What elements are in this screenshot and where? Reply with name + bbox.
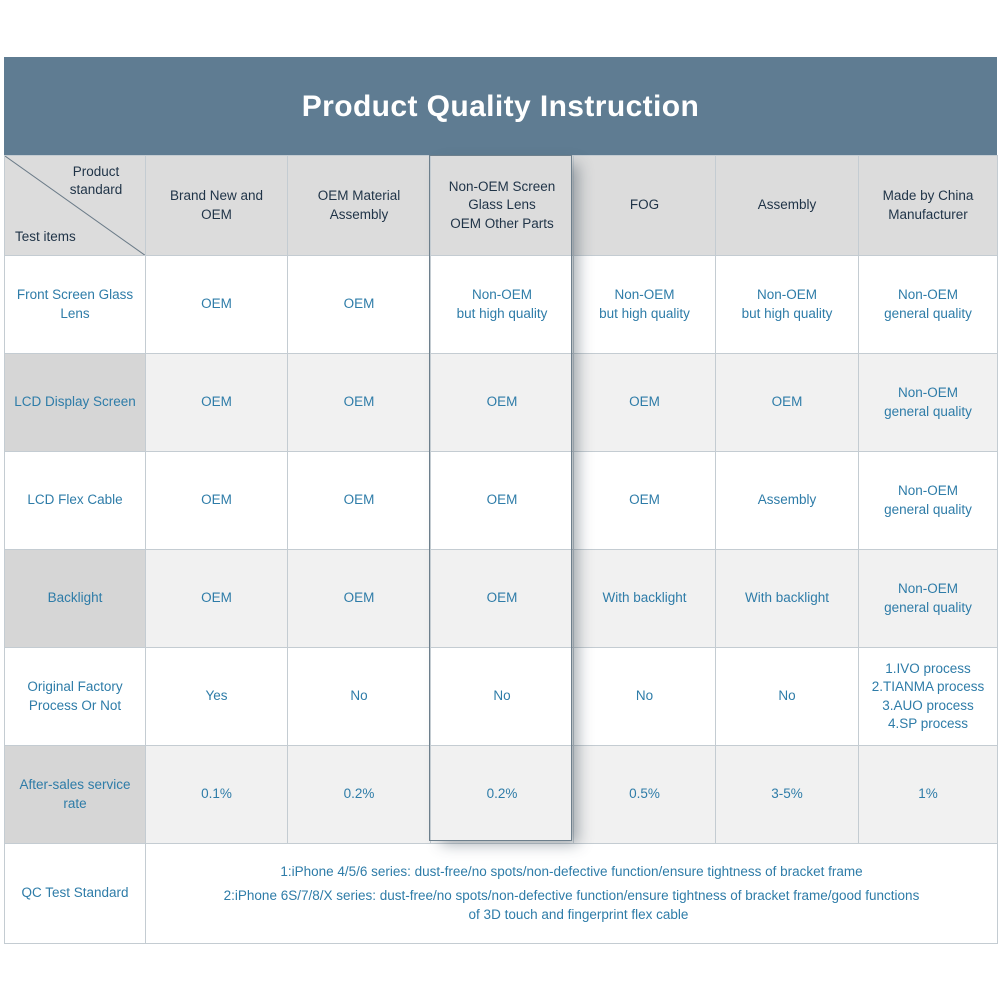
table-cell: OEM [574,354,716,452]
cell-line: No [493,688,510,703]
table-cell: OEM [146,550,288,648]
table-cell: OEM [288,256,431,354]
table-cell: OEM [146,452,288,550]
table-cell: 0.1% [146,746,288,844]
column-header-line: FOG [630,197,659,212]
corner-header-cell: Product standard Test items [5,156,146,256]
table-cell: With backlight [716,550,859,648]
cell-line: OEM [487,492,518,507]
column-header-line: Made by China [883,188,974,203]
cell-line: 0.2% [344,786,375,801]
table-cell: 3-5% [716,746,859,844]
quality-comparison-table-wrapper: Product standard Test items Brand New an… [4,155,997,941]
table-cell: No [431,648,574,746]
column-header-line: OEM Other Parts [450,216,554,231]
process-list-item: 1.IVO process [885,661,971,676]
column-header-line: OEM Material [318,188,401,203]
cell-line: Non-OEM [472,287,532,302]
table-row: Original Factory Process Or Not Yes No N… [5,648,998,746]
row-label-after-sales-service-rate: After-sales service rate [5,746,146,844]
table-row: After-sales service rate 0.1% 0.2% 0.2% … [5,746,998,844]
qc-line-continuation: of 3D touch and fingerprint flex cable [150,906,993,924]
column-header-brand-new-and-oem: Brand New andOEM [146,156,288,256]
table-cell: OEM [146,354,288,452]
quality-comparison-table: Product standard Test items Brand New an… [4,155,998,944]
cell-line: With backlight [745,590,829,605]
cell-line: Non-OEM [757,287,817,302]
table-cell: With backlight [574,550,716,648]
table-cell: OEM [288,354,431,452]
column-header-oem-material-assembly: OEM MaterialAssembly [288,156,431,256]
table-cell: Non-OEMbut high quality [574,256,716,354]
cell-line: OEM [629,394,660,409]
table-cell: Non-OEMgeneral quality [859,354,998,452]
cell-line: general quality [884,600,972,615]
process-list-item: 3.AUO process [882,698,974,713]
row-label-front-screen-glass-lens: Front Screen Glass Lens [5,256,146,354]
cell-line: but high quality [742,306,833,321]
cell-line: Non-OEM [898,581,958,596]
cell-line: but high quality [457,306,548,321]
corner-header-product-standard: Product standard [57,163,135,198]
qc-test-standard-row: QC Test Standard 1:iPhone 4/5/6 series: … [5,844,998,944]
cell-line: Non-OEM [898,385,958,400]
column-header-line: Non-OEM Screen [449,179,556,194]
table-cell: No [288,648,431,746]
page-title: Product Quality Instruction [302,90,700,123]
table-cell: Non-OEMbut high quality [716,256,859,354]
row-label-lcd-flex-cable: LCD Flex Cable [5,452,146,550]
row-label-qc-test-standard: QC Test Standard [5,844,146,944]
cell-line: No [350,688,367,703]
column-header-line: Brand New and [170,188,263,203]
cell-line: Non-OEM [898,483,958,498]
column-header-made-by-china-manufacturer: Made by ChinaManufacturer [859,156,998,256]
cell-line: 0.1% [201,786,232,801]
column-header-non-oem-screen-glass-lens: Non-OEM ScreenGlass LensOEM Other Parts [431,156,574,256]
qc-line-1: 1:iPhone 4/5/6 series: dust-free/no spot… [150,863,993,881]
column-header-line: Manufacturer [888,207,968,222]
table-cell: 0.2% [288,746,431,844]
cell-line: With backlight [602,590,686,605]
table-cell: Non-OEMgeneral quality [859,452,998,550]
table-cell: No [574,648,716,746]
title-banner: Product Quality Instruction [4,57,997,155]
cell-line: 0.5% [629,786,660,801]
cell-line: Yes [205,688,227,703]
table-cell-process-list: 1.IVO process 2.TIANMA process 3.AUO pro… [859,648,998,746]
column-header-fog: FOG [574,156,716,256]
cell-line: OEM [344,394,375,409]
cell-line: OEM [201,296,232,311]
table-cell: Non-OEMgeneral quality [859,550,998,648]
cell-line: OEM [487,394,518,409]
row-label-text: LCD Display Screen [14,394,136,409]
cell-line: Non-OEM [898,287,958,302]
cell-line: 0.2% [487,786,518,801]
cell-line: OEM [201,492,232,507]
cell-line: 1% [918,786,938,801]
cell-line: 3-5% [771,786,803,801]
cell-line: OEM [344,492,375,507]
table-cell: OEM [431,452,574,550]
table-row: Backlight OEM OEM OEM With backlight Wit… [5,550,998,648]
row-label-text: Original Factory Process Or Not [27,679,122,712]
cell-line: general quality [884,502,972,517]
table-header-row: Product standard Test items Brand New an… [5,156,998,256]
cell-line: general quality [884,306,972,321]
cell-line: OEM [487,590,518,605]
cell-line: OEM [344,296,375,311]
qc-test-standard-content: 1:iPhone 4/5/6 series: dust-free/no spot… [146,844,998,944]
cell-line: Non-OEM [614,287,674,302]
row-label-text: After-sales service rate [19,777,130,810]
qc-line-main: 2:iPhone 6S/7/8/X series: dust-free/no s… [224,888,920,903]
column-header-line: OEM [201,207,232,222]
cell-line: OEM [772,394,803,409]
table-row: Front Screen Glass Lens OEM OEM Non-OEMb… [5,256,998,354]
column-header-line: Glass Lens [468,197,536,212]
table-cell: Non-OEMbut high quality [431,256,574,354]
table-cell: OEM [431,354,574,452]
table-cell: 1% [859,746,998,844]
column-header-line: Assembly [758,197,817,212]
row-label-lcd-display-screen: LCD Display Screen [5,354,146,452]
table-row: LCD Display Screen OEM OEM OEM OEM OEM N… [5,354,998,452]
row-label-original-factory-process: Original Factory Process Or Not [5,648,146,746]
table-cell: OEM [288,550,431,648]
cell-line: Assembly [758,492,817,507]
table-cell: OEM [288,452,431,550]
qc-line-main: 1:iPhone 4/5/6 series: dust-free/no spot… [280,864,862,879]
table-cell: OEM [716,354,859,452]
product-quality-instruction-page: Product Quality Instruction Product stan… [0,0,1000,1000]
cell-line: OEM [344,590,375,605]
table-cell: 0.2% [431,746,574,844]
table-row: LCD Flex Cable OEM OEM OEM OEM Assembly … [5,452,998,550]
table-cell: 0.5% [574,746,716,844]
qc-line-2: 2:iPhone 6S/7/8/X series: dust-free/no s… [150,887,993,923]
corner-header-test-items: Test items [15,228,76,246]
row-label-backlight: Backlight [5,550,146,648]
cell-line: OEM [201,394,232,409]
cell-line: but high quality [599,306,690,321]
table-cell: Assembly [716,452,859,550]
table-cell: No [716,648,859,746]
cell-line: OEM [629,492,660,507]
table-cell: OEM [146,256,288,354]
table-cell: OEM [574,452,716,550]
cell-line: OEM [201,590,232,605]
table-cell: Yes [146,648,288,746]
table-cell: Non-OEMgeneral quality [859,256,998,354]
column-header-line: Assembly [330,207,389,222]
cell-line: No [636,688,653,703]
cell-line: No [778,688,795,703]
cell-line: general quality [884,404,972,419]
process-list-item: 4.SP process [888,716,968,731]
process-list-item: 2.TIANMA process [872,679,985,694]
column-header-assembly: Assembly [716,156,859,256]
table-cell: OEM [431,550,574,648]
